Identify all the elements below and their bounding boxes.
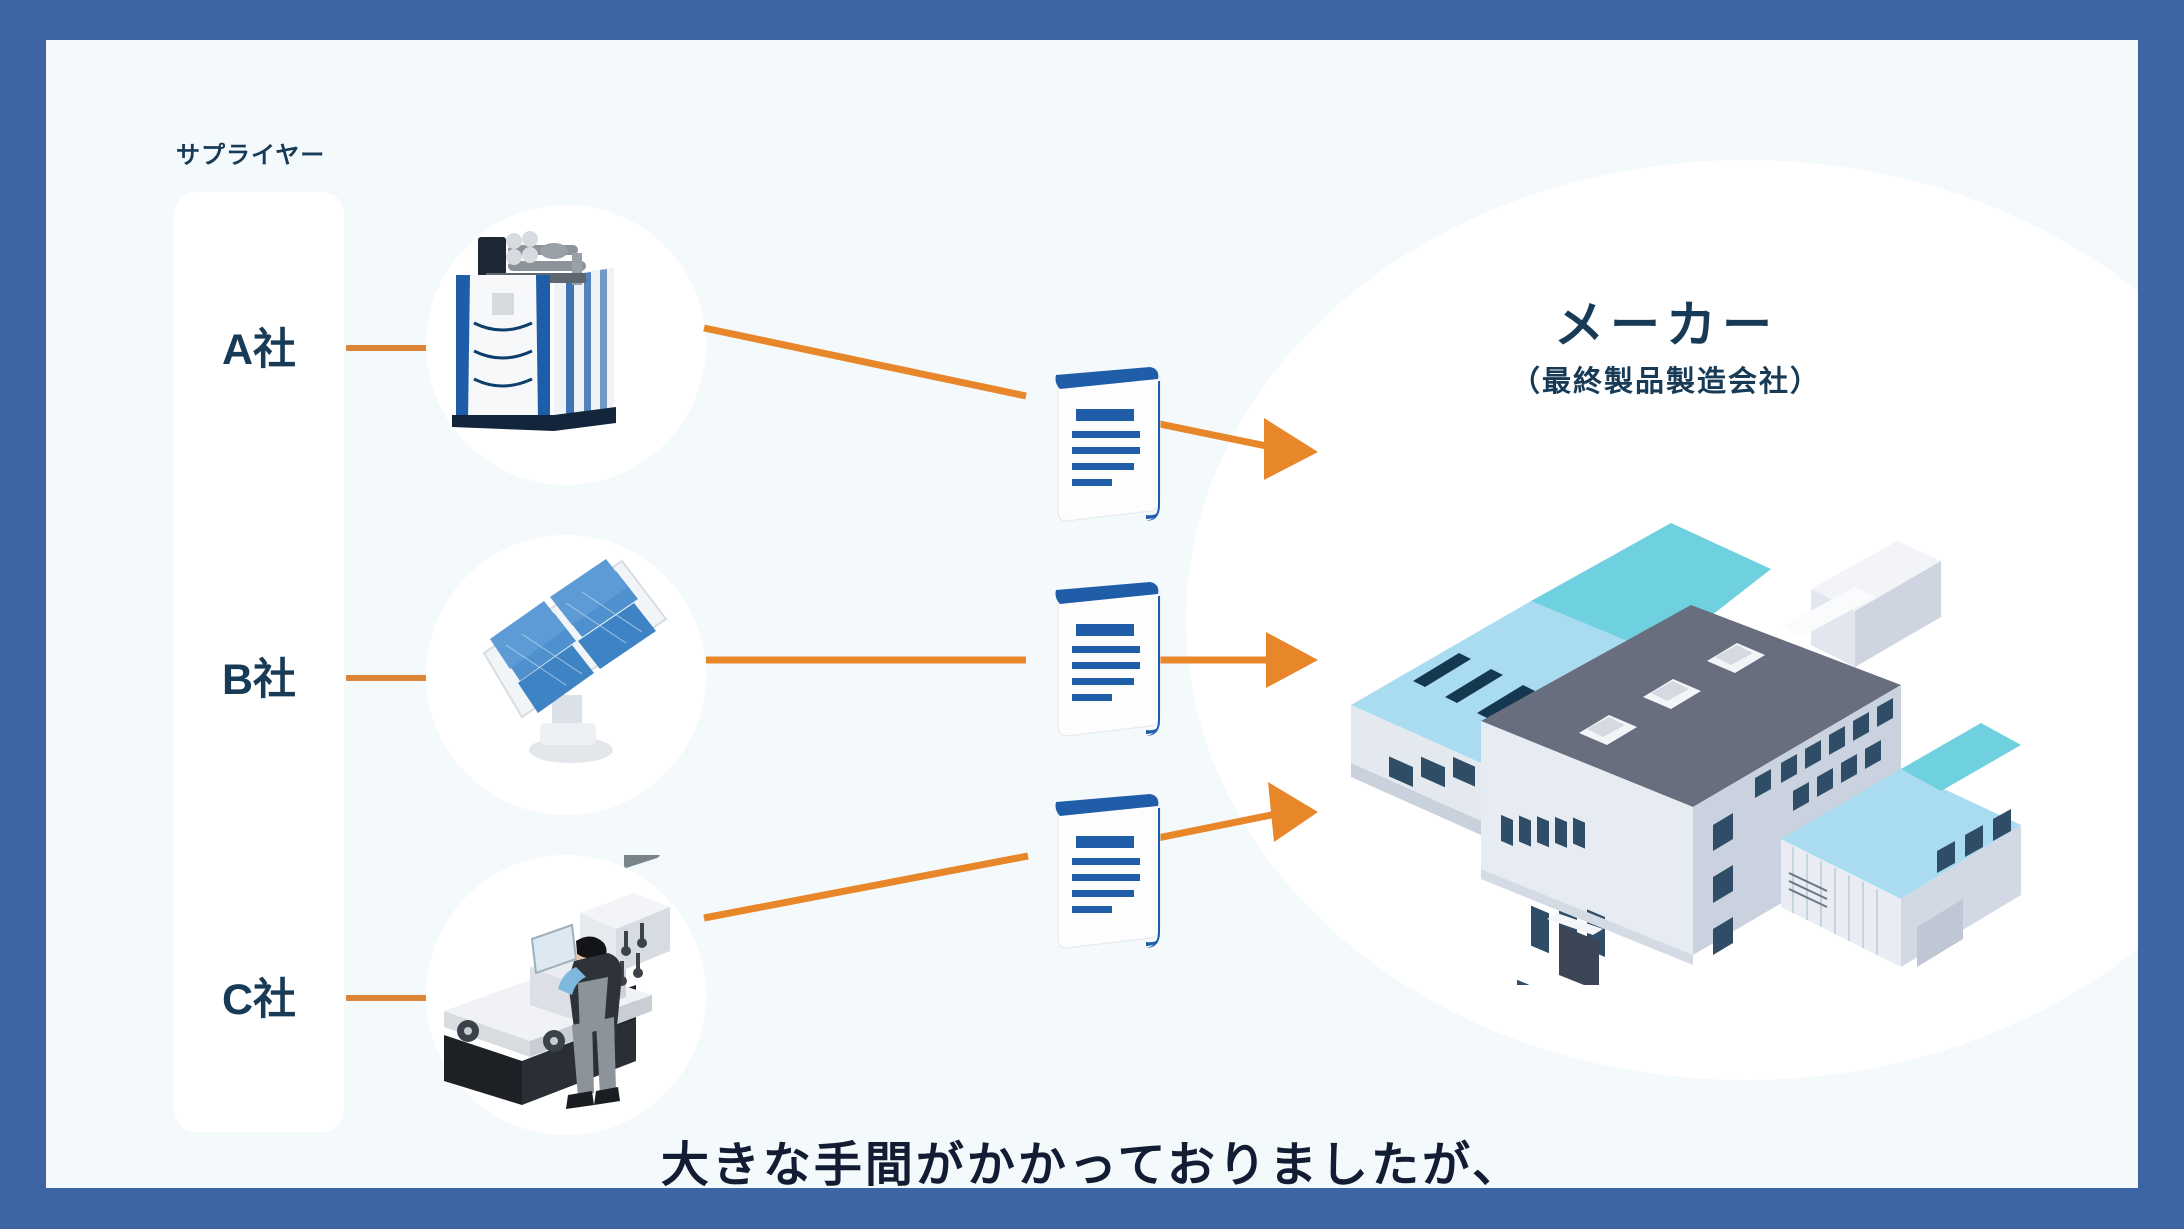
lathe-machine-icon xyxy=(426,855,706,1135)
supplier-icon-bubble-b xyxy=(426,535,706,815)
supplier-icon-bubble-c xyxy=(426,855,706,1135)
solar-panel-icon xyxy=(426,535,706,815)
maker-title: メーカー xyxy=(1426,285,1906,357)
maker-subtitle: （最終製品製造会社） xyxy=(1426,358,1906,400)
document-icon-a xyxy=(1046,365,1176,530)
supplier-label-a: A社 xyxy=(164,315,354,377)
slide-canvas: サプライヤー A社 B社 C社 xyxy=(46,40,2138,1188)
supplier-label-b: B社 xyxy=(164,645,354,707)
supplier-section-title: サプライヤー xyxy=(176,135,325,170)
supplier-label-c: C社 xyxy=(164,965,354,1027)
boiler-machine-icon xyxy=(426,205,706,485)
document-icon-b xyxy=(1046,580,1176,745)
bottom-caption: 大きな手間がかかっておりましたが、 xyxy=(46,1125,2138,1188)
document-icon-c xyxy=(1046,792,1176,957)
supplier-icon-bubble-a xyxy=(426,205,706,485)
factory-building-icon xyxy=(1341,495,2021,985)
